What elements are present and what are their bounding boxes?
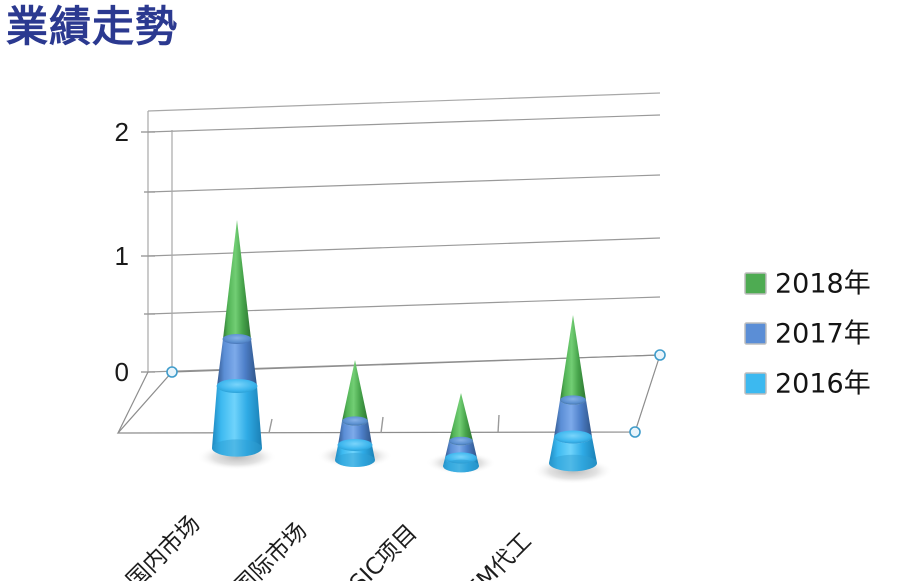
- y-tick-label-0: 0: [115, 357, 129, 387]
- legend-swatch-2017: [745, 323, 766, 344]
- selection-handle-back-right[interactable]: [655, 350, 665, 360]
- x-axis-category-labels: 国内市场 国际市场 ASIC项目 OEM代工: [122, 511, 537, 581]
- slide-canvas: 業績走勢: [0, 0, 912, 581]
- y-tick-label-1: 1: [115, 241, 129, 271]
- legend-item-2018[interactable]: 2018年: [745, 269, 871, 300]
- category-label-2: ASIC项目: [334, 520, 423, 581]
- legend-label-2016: 2016年: [775, 369, 871, 400]
- chart-3d-stacked-cone[interactable]: 2 1 0: [0, 85, 912, 581]
- cone-1-segment-2018[interactable]: [342, 360, 368, 426]
- category-label-1: 国际市场: [229, 518, 312, 581]
- selection-handle-origin[interactable]: [167, 367, 177, 377]
- cone-group-2[interactable]: [426, 393, 496, 474]
- chart-legend[interactable]: 2018年 2017年 2016年: [745, 269, 871, 400]
- y-tick-label-2: 2: [115, 117, 129, 147]
- y-axis: [141, 130, 172, 372]
- y-axis-tick-labels: 2 1 0: [115, 117, 129, 387]
- chart-svg: 2 1 0: [0, 85, 912, 581]
- legend-label-2017: 2017年: [775, 319, 871, 350]
- cone-group-3[interactable]: [533, 315, 613, 484]
- page-title: 業績走勢: [6, 4, 178, 50]
- selection-handle-front-right[interactable]: [630, 427, 640, 437]
- category-label-0: 国内市场: [122, 511, 205, 581]
- cone-3-segment-2018[interactable]: [560, 315, 586, 405]
- category-label-3: OEM代工: [449, 528, 537, 581]
- legend-swatch-2018: [745, 273, 766, 294]
- legend-label-2018: 2018年: [775, 269, 871, 300]
- legend-item-2016[interactable]: 2016年: [745, 369, 871, 400]
- cone-0-segment-2018[interactable]: [223, 220, 251, 343]
- legend-swatch-2016: [745, 373, 766, 394]
- legend-item-2017[interactable]: 2017年: [745, 319, 871, 350]
- cone-group-1[interactable]: [317, 360, 393, 468]
